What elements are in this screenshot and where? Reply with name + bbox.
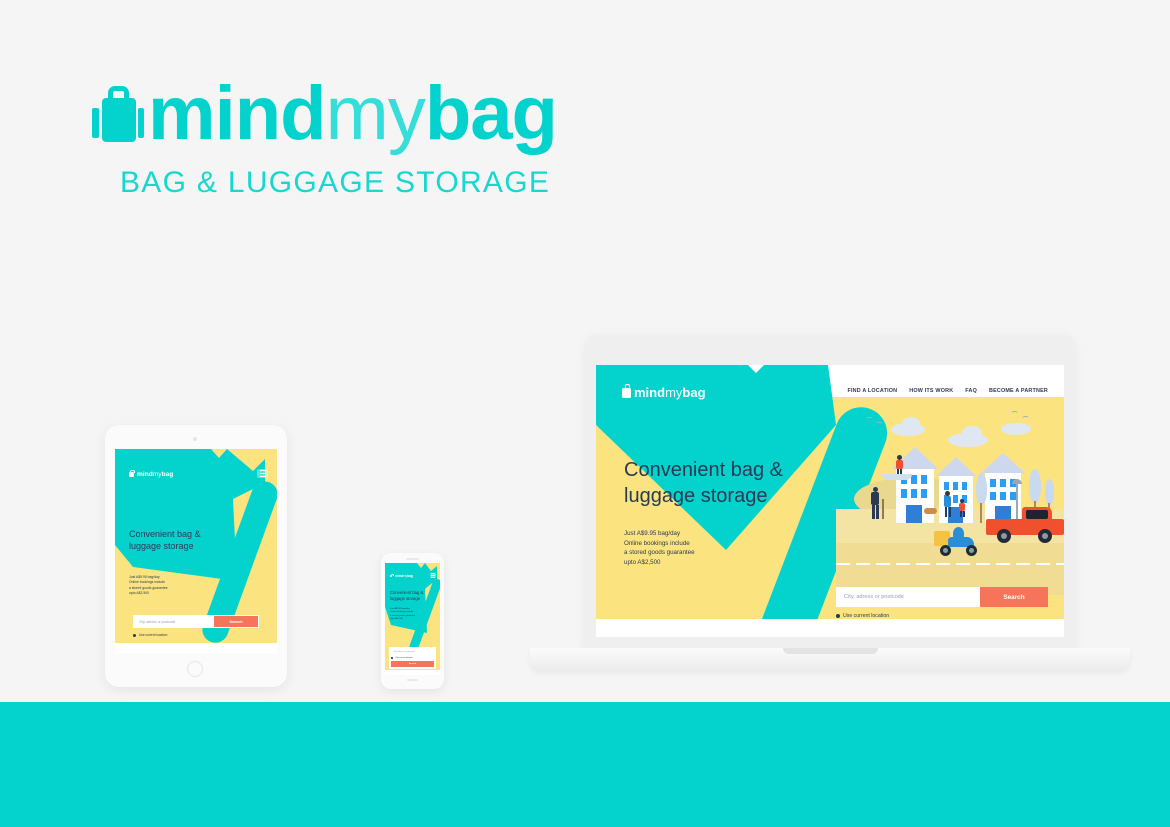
hero-heading: Convenient bag & luggage storage [129,529,201,553]
brand-word-mind: mind [148,71,326,156]
logo-word-mind: mind [634,385,665,400]
hamburger-menu-icon[interactable] [430,573,436,578]
brand-word-my: my [326,71,425,156]
map-pin-icon [133,634,136,637]
logo-word-mind: mind [395,574,403,578]
boat-shape [882,474,912,480]
brand-tagline: BAG & LUGGAGE STORAGE [120,166,557,200]
hero-subtext: Just A$9.95 bag/day Online bookings incl… [624,529,695,567]
search-button[interactable]: Search [391,661,434,667]
person-child [958,499,967,517]
bird-icon [1022,416,1029,420]
phone-mockup: mindmybag Convenient bag & luggage stora… [381,553,444,689]
phone-speaker [406,558,419,560]
site-logo[interactable]: mindmybag [129,471,173,478]
hero-heading-line2: luggage storage [390,596,423,602]
brand-wordmark: mindmybag [148,76,557,152]
logo-word-my: my [403,574,407,578]
hero-heading-line1: Convenient bag & [390,590,423,596]
search-input[interactable]: City, adress or postcode [836,587,980,607]
bird-icon [866,417,873,421]
logo-word-my: my [665,385,682,400]
laptop-screen: mindmybag FIND A LOCATION HOW ITS WORK F… [596,365,1064,637]
cane-icon [882,499,884,519]
logo-word-my: my [153,471,162,478]
person-fisherman [894,455,906,475]
brand-wordmark-row: mindmybag [92,78,557,150]
hero-sub-line2: Online bookings include [624,539,695,549]
website-hero-tablet: mindmybag Convenient bag & luggage stora… [115,449,277,653]
site-logo[interactable]: mindmybag [622,385,706,400]
website-hero-desktop: mindmybag FIND A LOCATION HOW ITS WORK F… [596,365,1064,637]
use-current-location-link[interactable]: Use current location [836,613,889,619]
nav-item-become-a-partner[interactable]: BECOME A PARTNER [989,388,1048,394]
hero-heading-line2: luggage storage [129,541,201,553]
nav-item-find-a-location[interactable]: FIND A LOCATION [847,388,897,394]
search-input-text: City, adress or postcode [391,649,434,655]
use-current-location-label: Use current location [396,657,413,659]
road-dashes [836,563,1064,565]
laptop-mockup: mindmybag FIND A LOCATION HOW ITS WORK F… [530,335,1130,685]
bird-icon [876,422,883,426]
suitcase-icon [92,86,144,142]
mockup-canvas: mindmybag BAG & LUGGAGE STORAGE [0,0,1170,827]
laptop-trackpad-notch [783,648,878,654]
map-pin-icon [836,614,840,618]
search-button[interactable]: Search [214,616,258,627]
brand-word-bag: bag [425,71,557,156]
logo-word-bag: bag [162,471,174,478]
phone-home-indicator [407,679,418,681]
hero-heading: Convenient bag & luggage storage [624,457,783,510]
tablet-camera [193,437,197,441]
search-input[interactable]: City, adress or postcode [134,616,214,627]
hero-bottom-strip [115,643,277,653]
use-current-location-link[interactable]: Use current location [391,657,412,659]
use-current-location-label: Use current location [843,613,889,619]
pickup-truck-icon [986,507,1064,541]
map-pin-icon [391,657,393,659]
tablet-home-button[interactable] [187,661,203,677]
hero-sub-line3: a stored goods guarantee [624,548,695,558]
tablet-mockup: mindmybag Convenient bag & luggage stora… [105,425,287,687]
hero-bottom-strip [385,670,440,675]
use-current-location-label: Use current location [139,633,167,637]
hero-sub-line4: upto A$2,500 [624,558,695,568]
person-with-cane [870,487,882,519]
use-current-location-link[interactable]: Use current location [133,633,167,637]
hero-sub-line4: upto A$2,500 [390,618,415,621]
search-bar: City, adress or postcode Search [133,615,259,628]
bird-icon [1011,411,1018,415]
delivery-scooter-icon [934,527,980,557]
logo-word-mind: mind [137,471,153,478]
hero-subtext: Just A$9.95 bag/day Online bookings incl… [390,608,415,622]
search-bar: City, adress or postcode Search [836,587,1048,607]
person-walking-dog [942,491,954,517]
hero-sub-line1: Just A$9.95 bag/day [624,529,695,539]
nav-item-how-its-work[interactable]: HOW ITS WORK [909,388,953,394]
site-logo[interactable]: mindmybag [390,574,413,578]
cloud-icon [962,426,982,440]
hero-heading-line1: Convenient bag & [129,529,201,541]
street-lamp-head [1012,479,1022,484]
hero-heading: Convenient bag & luggage storage [390,590,423,601]
hamburger-menu-icon[interactable] [257,469,268,478]
logo-word-bag: bag [407,574,413,578]
suitcase-icon [622,388,631,398]
search-button[interactable]: Search [980,587,1048,607]
bottom-teal-band [0,702,1170,827]
suitcase-icon [129,472,134,478]
nav-item-faq[interactable]: FAQ [965,388,977,394]
cloud-icon [902,417,920,430]
hero-heading-line2: luggage storage [624,483,783,509]
site-nav: FIND A LOCATION HOW ITS WORK FAQ BECOME … [847,388,1048,394]
hero-sub-line2: Online bookings include [129,580,168,585]
dog-icon [924,508,937,514]
logo-word-bag: bag [682,385,705,400]
hero-sub-line4: upto A$2,500 [129,591,168,596]
search-input[interactable]: City, adress or postcode [391,649,434,655]
hero-bottom-strip [596,619,1064,637]
cloud-icon [1001,423,1031,435]
search-button-row: Search [391,661,434,667]
tablet-screen: mindmybag Convenient bag & luggage stora… [115,449,277,653]
website-hero-phone: mindmybag Convenient bag & luggage stora… [385,563,440,675]
brand-lockup: mindmybag BAG & LUGGAGE STORAGE [92,78,557,200]
hero-heading-line1: Convenient bag & [624,457,783,483]
city-street-illustration [836,395,1064,595]
hero-subtext: Just A$9.95 bag/day Online bookings incl… [129,575,168,596]
suitcase-icon [390,575,392,578]
phone-screen: mindmybag Convenient bag & luggage stora… [385,563,440,675]
